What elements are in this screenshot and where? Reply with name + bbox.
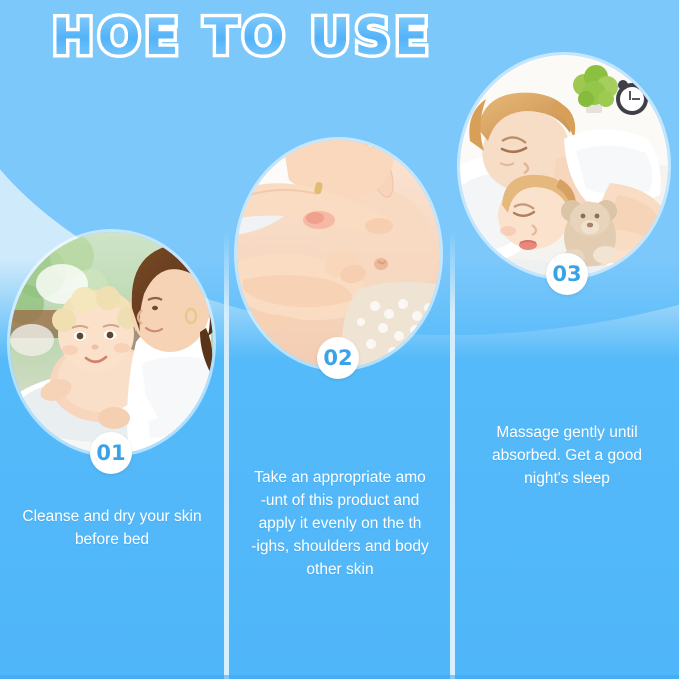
step-1-caption: Cleanse and dry your skin before bed bbox=[4, 505, 220, 551]
how-to-use-poster: HOE TO USE HOE TO USE bbox=[0, 0, 679, 679]
page-title: HOE TO USE bbox=[52, 8, 433, 66]
bottom-strip bbox=[0, 675, 679, 679]
step-3-caption: Massage gently until absorbed. Get a goo… bbox=[456, 421, 678, 490]
step-1-photo bbox=[10, 232, 213, 454]
step-3-badge: 03 bbox=[546, 253, 588, 295]
step-3-photo bbox=[460, 55, 668, 277]
step-1-badge: 01 bbox=[90, 432, 132, 474]
step-2-caption: Take an appropriate amo -unt of this pro… bbox=[229, 466, 451, 581]
step-2-badge: 02 bbox=[317, 337, 359, 379]
step-2-photo bbox=[237, 140, 440, 368]
